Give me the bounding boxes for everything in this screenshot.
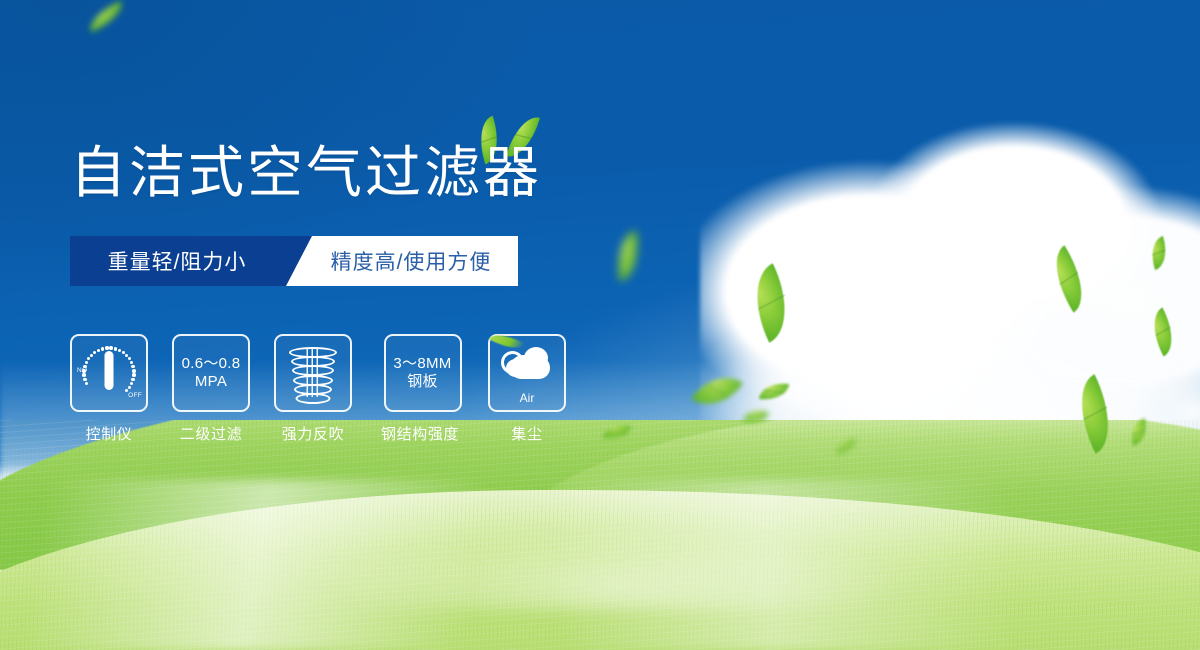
feature-item[interactable]: Air集尘 <box>488 334 566 444</box>
gauge-tick-dot <box>128 357 132 361</box>
feature-label: 二级过滤 <box>180 423 242 444</box>
feature-label: 控制仪 <box>86 423 133 444</box>
gauge-tick-dot <box>130 382 134 386</box>
feature-item[interactable]: NOOFF控制仪 <box>70 334 148 444</box>
coil-spiral-icon <box>274 334 352 412</box>
grass-field <box>0 420 1200 650</box>
gauge-tick-dot <box>109 346 113 350</box>
gauge-needle <box>105 351 114 389</box>
gauge-tick-dot <box>93 351 97 355</box>
feature-list: NOOFF控制仪0.6〜0.8 MPA二级过滤强力反吹3〜8MM 钢板钢结构强度… <box>70 334 566 444</box>
feature-item[interactable]: 强力反吹 <box>274 334 352 444</box>
subtitle-left-segment: 重量轻/阻力小 <box>70 236 286 286</box>
gauge-tick-dot <box>101 347 105 351</box>
gauge-tick-dot <box>114 347 118 351</box>
feature-label: 集尘 <box>511 423 542 444</box>
gauge-tick-dot <box>130 361 134 365</box>
product-banner: 自洁式空气过滤器 重量轻/阻力小 精度高/使用方便 NOOFF控制仪0.6〜0.… <box>0 0 1200 650</box>
grass-sunlight-sheen <box>0 480 1200 650</box>
subtitle-right-segment: 精度高/使用方便 <box>312 236 518 286</box>
gauge-dial-icon: NOOFF <box>70 334 148 412</box>
gauge-tick-dot <box>97 349 101 353</box>
gauge-tick-dot <box>132 373 136 377</box>
gauge-graphic: NOOFF <box>78 343 140 403</box>
feature-item[interactable]: 0.6〜0.8 MPA二级过滤 <box>172 334 250 444</box>
gauge-tick-dot <box>131 365 135 369</box>
coil-ring <box>296 393 331 404</box>
pressure-value-icon: 0.6〜0.8 MPA <box>172 334 250 412</box>
gauge-label-off: OFF <box>128 392 142 399</box>
gauge-tick-dot <box>85 382 89 386</box>
feature-item[interactable]: 3〜8MM 钢板钢结构强度 <box>376 334 464 444</box>
cloud-puff <box>510 355 550 379</box>
subtitle-bar: 重量轻/阻力小 精度高/使用方便 <box>70 236 518 286</box>
gauge-tick-dot <box>132 369 136 373</box>
feature-label: 钢结构强度 <box>381 423 459 444</box>
feature-label: 强力反吹 <box>282 423 344 444</box>
feature-icon-text: 3〜8MM 钢板 <box>393 355 451 392</box>
gauge-tick-dot <box>87 357 91 361</box>
feature-icon-text: 0.6〜0.8 MPA <box>182 355 241 392</box>
steel-plate-icon: 3〜8MM 钢板 <box>384 334 462 412</box>
page-title: 自洁式空气过滤器 <box>70 146 542 202</box>
gauge-label-on: NO <box>77 367 87 374</box>
gauge-tick-dot <box>83 378 87 382</box>
gauge-tick-dot <box>85 361 89 365</box>
gauge-tick-dot <box>128 386 132 390</box>
gauge-tick-dot <box>118 349 122 353</box>
subtitle-slant-divider <box>286 236 312 286</box>
air-label: Air <box>496 391 558 405</box>
gauge-tick-dot <box>90 354 94 358</box>
coil-graphic <box>290 345 336 401</box>
gauge-tick-dot <box>131 378 135 382</box>
cloud-air-icon: Air <box>488 334 566 412</box>
cloud-air-graphic: Air <box>496 343 558 403</box>
gauge-tick-dot <box>105 346 109 350</box>
